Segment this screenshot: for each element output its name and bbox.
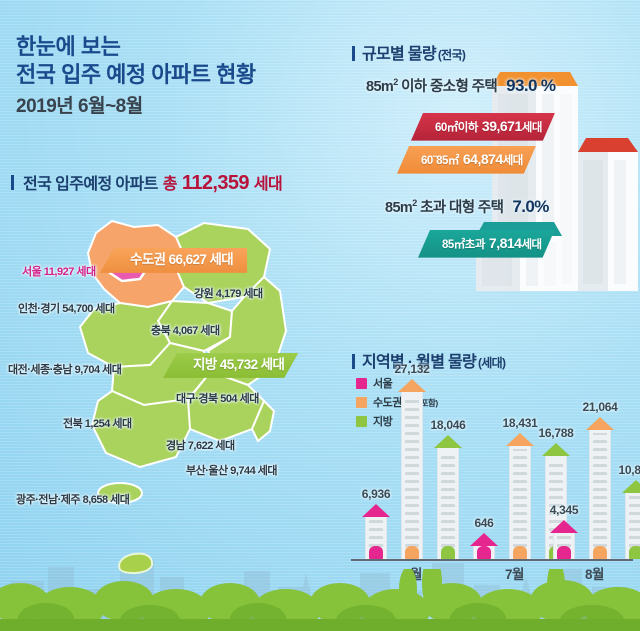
map-label-gyeongnam: 경남 7,622 세대 bbox=[166, 437, 235, 453]
map-label-gangwon: 강원 4,179 세대 bbox=[194, 285, 263, 301]
ribbon-60-to-85-value: 64,874 bbox=[463, 151, 503, 167]
map-label-incheon-gyeonggi: 인천·경기 54,700 세대 bbox=[18, 300, 115, 316]
bar-value-capital-june: 27,132 bbox=[387, 362, 437, 376]
total-prefix: 총 bbox=[163, 170, 177, 194]
size-large-label: 85m2 초과 대형 주택 bbox=[385, 196, 503, 217]
city-skyline-icon bbox=[0, 551, 640, 631]
bar-roof-icon bbox=[550, 520, 578, 532]
size-large-percent: 7.0% bbox=[512, 197, 548, 217]
ribbon-under-60: 60㎡이하 39,671세대 bbox=[411, 113, 555, 141]
map-label-gwangju-jeonnam-jeju: 광주·전남·제주 8,658 세대 bbox=[16, 491, 129, 507]
ribbon-60-to-85-unit: 세대 bbox=[503, 155, 523, 167]
size-section-heading: 규모별 물량 (전국) bbox=[352, 40, 465, 64]
title-line-2: 전국 입주 예정 아파트 현황 bbox=[16, 61, 256, 89]
bar-body bbox=[437, 447, 459, 559]
map-label-chungbuk: 충북 4,067 세대 bbox=[151, 322, 220, 338]
bar-base bbox=[513, 546, 527, 559]
bar-windows bbox=[513, 449, 527, 547]
accent-bar-icon bbox=[352, 46, 355, 61]
bar-windows bbox=[593, 433, 607, 547]
ribbon-over-85-unit: 세대 bbox=[521, 239, 541, 251]
bar-body bbox=[589, 429, 611, 559]
bar-base bbox=[405, 546, 419, 559]
bar-body bbox=[509, 445, 531, 559]
bar-base bbox=[593, 546, 607, 559]
axis-label-june: 6월 bbox=[403, 563, 422, 583]
map-banner-local-value: 45,732 bbox=[220, 357, 258, 372]
bar-roof-icon bbox=[622, 480, 640, 492]
ribbon-under-60-unit: 세대 bbox=[522, 122, 542, 134]
map-label-seoul: 서울 11,927 세대 bbox=[22, 263, 96, 279]
map-banner-local-name: 지방 bbox=[193, 357, 217, 372]
building-mid-roof bbox=[578, 138, 638, 152]
ribbon-60-to-85: 60˜85㎡ 64,874세대 bbox=[397, 146, 536, 174]
map-label-daegu-gyeongbuk: 대구·경북 504 세대 bbox=[176, 390, 259, 406]
bar-base bbox=[369, 546, 383, 559]
axis-label-july: 7월 bbox=[505, 563, 524, 583]
bar-value-capital-august: 21,064 bbox=[575, 400, 625, 414]
ribbon-over-85: 85㎡초과 7,814세대 bbox=[418, 230, 555, 258]
bar-roof-icon bbox=[434, 435, 462, 447]
ribbon-under-60-value: 39,671 bbox=[482, 118, 522, 134]
bar-windows bbox=[369, 520, 383, 547]
size-small-label: 85m2 이하 중소형 주택 bbox=[366, 75, 497, 96]
ribbon-under-60-range: 60㎡이하 bbox=[435, 122, 478, 134]
title-period: 2019년 6월~8월 bbox=[16, 91, 256, 118]
map-banner-local-unit: 세대 bbox=[261, 357, 285, 372]
infographic-root: 한눈에 보는 전국 입주 예정 아파트 현황 2019년 6월~8월 전국 입주… bbox=[0, 0, 640, 631]
bar-windows bbox=[405, 395, 419, 547]
map-banner-capital-name: 수도권 bbox=[130, 252, 165, 267]
accent-bar-icon bbox=[11, 175, 14, 190]
bar-value-seoul-july: 646 bbox=[459, 516, 509, 530]
map-banner-capital-value: 66,627 bbox=[169, 252, 207, 267]
bar-base bbox=[557, 546, 571, 559]
map-banner-local: 지방 45,732 세대 bbox=[163, 353, 298, 378]
size-row-large: 85m2 초과 대형 주택 7.0% bbox=[385, 196, 549, 217]
map-banner-capital: 수도권 66,627 세대 bbox=[100, 248, 247, 273]
bar-body bbox=[401, 391, 423, 559]
ribbon-over-85-value: 7,814 bbox=[489, 235, 522, 251]
decorative-blob-icon bbox=[117, 551, 154, 576]
bar-base bbox=[441, 546, 455, 559]
title-line-1: 한눈에 보는 bbox=[16, 33, 256, 61]
bar-base bbox=[629, 546, 640, 559]
monthly-bar-chart: 6,936 27,132 18,046 646 18,431 bbox=[345, 360, 640, 560]
bar-roof-icon bbox=[506, 433, 534, 445]
total-unit: 세대 bbox=[254, 170, 282, 194]
tree-foliage-icon bbox=[0, 569, 640, 631]
ribbon-over-85-range: 85㎡초과 bbox=[442, 239, 485, 251]
size-heading-main: 규모별 물량 bbox=[362, 40, 436, 64]
bar-value-seoul-june: 6,936 bbox=[351, 487, 401, 501]
map-label-busan-ulsan: 부산·울산 9,744 세대 bbox=[186, 462, 277, 478]
bar-roof-icon bbox=[586, 417, 614, 429]
axis-label-august: 8월 bbox=[585, 563, 604, 583]
ribbon-60-to-85-range: 60˜85㎡ bbox=[421, 155, 459, 167]
bar-roof-icon bbox=[470, 533, 498, 545]
bar-roof-icon bbox=[398, 379, 426, 391]
page-title: 한눈에 보는 전국 입주 예정 아파트 현황 2019년 6월~8월 bbox=[16, 33, 256, 118]
total-number: 112,359 bbox=[182, 172, 249, 195]
bar-value-seoul-august: 4,345 bbox=[539, 503, 589, 517]
total-label: 전국 입주예정 아파트 bbox=[23, 170, 158, 194]
bar-windows bbox=[629, 496, 640, 547]
bar-value-local-august: 10,898 bbox=[611, 463, 640, 477]
bar-roof-icon bbox=[362, 504, 390, 516]
bar-value-local-july: 16,788 bbox=[531, 426, 581, 440]
map-label-daejeon-sejong-chungnam: 대전·세종·충남 9,704 세대 bbox=[8, 361, 121, 377]
bar-roof-icon bbox=[542, 443, 570, 455]
map-label-jeonbuk: 전북 1,254 세대 bbox=[63, 415, 132, 431]
bar-value-local-june: 18,046 bbox=[423, 418, 473, 432]
chart-baseline bbox=[351, 559, 633, 561]
bar-base bbox=[477, 546, 491, 559]
total-summary: 전국 입주예정 아파트 총 112,359 세대 bbox=[11, 170, 282, 195]
bar-windows bbox=[441, 451, 455, 547]
map-banner-capital-unit: 세대 bbox=[209, 252, 233, 267]
size-row-small-medium: 85m2 이하 중소형 주택 93.0 % bbox=[366, 75, 555, 96]
size-heading-sub: (전국) bbox=[438, 46, 465, 63]
size-small-percent: 93.0 % bbox=[506, 76, 555, 96]
